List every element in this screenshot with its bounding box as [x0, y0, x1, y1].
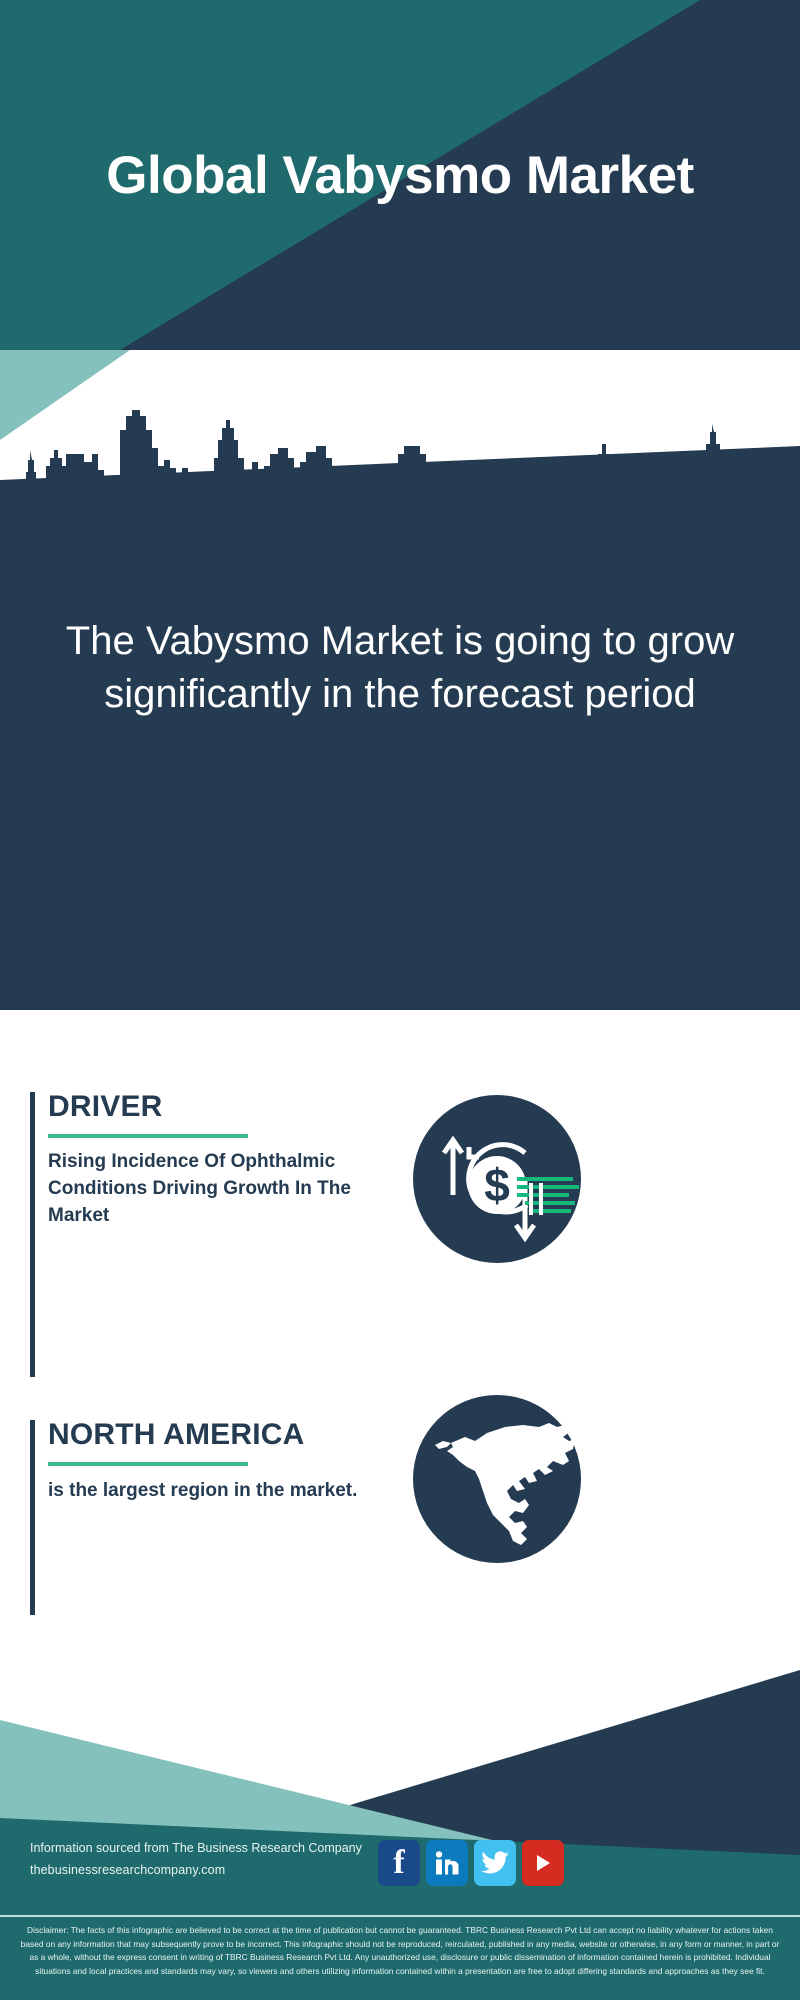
- hero-band: The Vabysmo Market is going to grow sign…: [0, 350, 800, 1010]
- footer-source-text: Information sourced from The Business Re…: [30, 1838, 362, 1882]
- disclaimer-text: Disclaimer: The facts of this infographi…: [16, 1924, 784, 1978]
- content-area: DRIVER Rising Incidence Of Ophthalmic Co…: [0, 1010, 800, 1620]
- north-america-accent-bar: [30, 1420, 35, 1615]
- youtube-icon[interactable]: [522, 1840, 564, 1886]
- disclaimer: Disclaimer: The facts of this infographi…: [0, 1915, 800, 2000]
- north-america-map-icon: [413, 1395, 581, 1563]
- twitter-icon[interactable]: [474, 1840, 516, 1886]
- north-america-body: is the largest region in the market.: [48, 1478, 368, 1505]
- north-america-title-rule: [48, 1462, 248, 1466]
- driver-accent-bar: [30, 1092, 35, 1377]
- footer-website[interactable]: thebusinessresearchcompany.com: [30, 1860, 362, 1882]
- dollar-growth-icon: $: [413, 1095, 581, 1263]
- footer-source-line: Information sourced from The Business Re…: [30, 1838, 362, 1860]
- hero-message: The Vabysmo Market is going to grow sign…: [60, 615, 740, 721]
- linkedin-icon[interactable]: [426, 1840, 468, 1886]
- page-title: Global Vabysmo Market: [0, 0, 800, 350]
- driver-title-rule: [48, 1134, 248, 1138]
- driver-title: DRIVER: [48, 1092, 163, 1122]
- driver-body: Rising Incidence Of Ophthalmic Condition…: [48, 1149, 393, 1230]
- svg-text:$: $: [484, 1159, 510, 1211]
- city-skyline-icon: [0, 410, 800, 520]
- social-links: f: [378, 1840, 564, 1886]
- north-america-title: NORTH AMERICA: [48, 1420, 304, 1450]
- infographic-page: Global Vabysmo Market The Vabysmo Market…: [0, 0, 800, 2000]
- header-banner: Global Vabysmo Market: [0, 0, 800, 350]
- facebook-icon[interactable]: f: [378, 1840, 420, 1886]
